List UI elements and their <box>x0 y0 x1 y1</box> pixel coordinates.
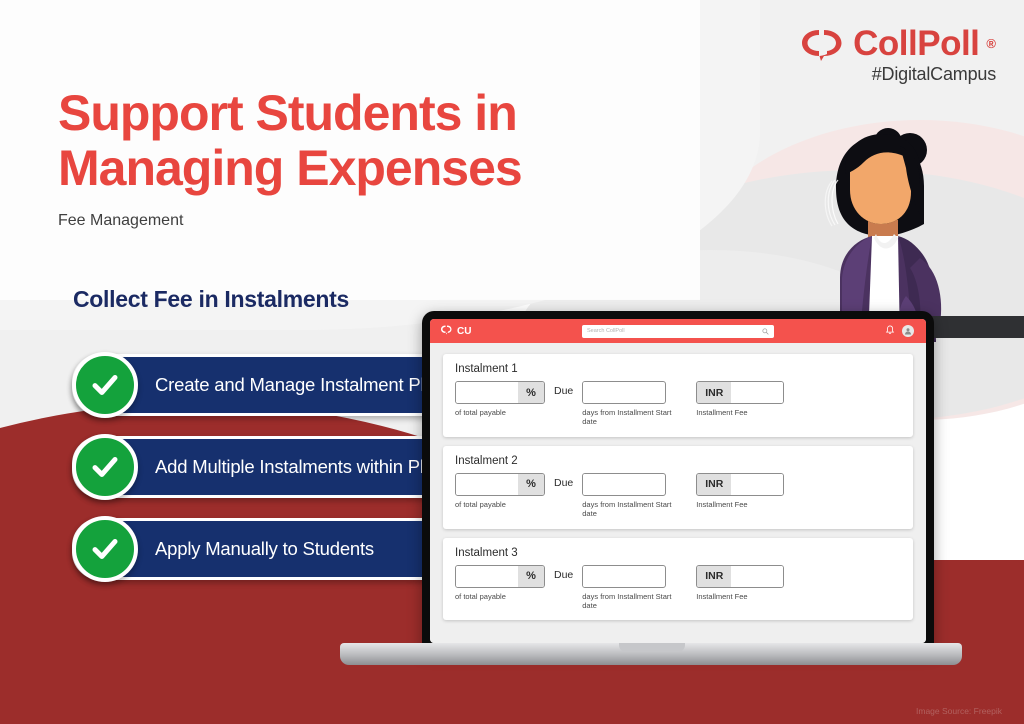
search-icon <box>762 322 769 340</box>
percent-input[interactable]: % <box>455 473 545 496</box>
search-placeholder: Search CollPoll <box>587 328 762 334</box>
fee-value[interactable] <box>731 566 783 587</box>
instalment-title: Instalment 1 <box>455 363 901 375</box>
fee-value[interactable] <box>731 474 783 495</box>
registered-mark: ® <box>986 36 996 51</box>
currency-prefix: INR <box>697 566 731 587</box>
page-title: Support Students in Managing Expenses <box>58 86 678 196</box>
due-label: Due <box>554 473 573 494</box>
check-icon <box>72 434 138 500</box>
percent-value[interactable] <box>456 474 518 495</box>
app-bar-actions <box>885 322 914 340</box>
check-icon <box>72 352 138 418</box>
percent-field-group: % of total payable <box>455 381 545 417</box>
image-credit: Image Source: Freepik <box>916 706 1002 716</box>
days-value[interactable] <box>583 382 645 403</box>
speech-bubble-icon <box>798 27 846 61</box>
percent-value[interactable] <box>456 566 518 587</box>
fee-hint: Installment Fee <box>696 500 784 509</box>
app-logo-text: CU <box>457 326 471 337</box>
poster-canvas: CollPoll ® #DigitalCampus Support Studen… <box>0 0 1024 724</box>
days-hint: days from Installment Start date <box>582 500 682 519</box>
fee-input[interactable]: INR <box>696 565 784 588</box>
days-value[interactable] <box>583 566 645 587</box>
percent-hint: of total payable <box>455 408 545 417</box>
percent-input[interactable]: % <box>455 565 545 588</box>
days-hint: days from Installment Start date <box>582 592 682 611</box>
fee-input[interactable]: INR <box>696 381 784 404</box>
speech-bubble-icon <box>440 322 453 340</box>
fee-value[interactable] <box>731 382 783 403</box>
percent-field-group: % of total payable <box>455 473 545 509</box>
percent-field-group: % of total payable <box>455 565 545 601</box>
fee-hint: Installment Fee <box>696 408 784 417</box>
fee-hint: Installment Fee <box>696 592 784 601</box>
app-top-bar: CU Search CollPoll <box>430 319 926 343</box>
currency-prefix: INR <box>697 382 731 403</box>
laptop-screen: CU Search CollPoll <box>422 311 934 651</box>
percent-hint: of total payable <box>455 500 545 509</box>
app-viewport: CU Search CollPoll <box>430 319 926 643</box>
percent-value[interactable] <box>456 382 518 403</box>
percent-suffix: % <box>518 474 544 495</box>
search-input[interactable]: Search CollPoll <box>582 325 774 338</box>
days-field-group: days from Installment Start date <box>582 565 682 611</box>
percent-input[interactable]: % <box>455 381 545 404</box>
bell-icon[interactable] <box>885 322 895 340</box>
days-input[interactable] <box>582 381 666 404</box>
brand-tagline: #DigitalCampus <box>798 64 996 85</box>
currency-prefix: INR <box>697 474 731 495</box>
instalment-card: Instalment 1 % of total payable Due <box>443 354 913 437</box>
days-input[interactable] <box>582 565 666 588</box>
instalment-title: Instalment 2 <box>455 455 901 467</box>
app-logo[interactable]: CU <box>440 322 471 340</box>
brand-name: CollPoll <box>853 26 979 61</box>
days-hint: days from Installment Start date <box>582 408 682 427</box>
due-label: Due <box>554 565 573 586</box>
fee-input[interactable]: INR <box>696 473 784 496</box>
fee-field-group: INR Installment Fee <box>696 565 784 601</box>
instalment-card: Instalment 2 % of total payable Due <box>443 446 913 529</box>
laptop-mockup: CU Search CollPoll <box>340 311 962 671</box>
days-field-group: days from Installment Start date <box>582 381 682 427</box>
instalment-title: Instalment 3 <box>455 547 901 559</box>
fee-field-group: INR Installment Fee <box>696 381 784 417</box>
percent-hint: of total payable <box>455 592 545 601</box>
instalment-card: Instalment 3 % of total payable Due <box>443 538 913 621</box>
percent-suffix: % <box>518 566 544 587</box>
headline-line-1: Support Students in <box>58 86 678 141</box>
headline-line-2: Managing Expenses <box>58 141 678 196</box>
fee-field-group: INR Installment Fee <box>696 473 784 509</box>
page-subtitle: Fee Management <box>58 212 183 230</box>
user-avatar-icon[interactable] <box>902 325 914 337</box>
laptop-notch <box>619 643 685 652</box>
collpoll-logo: CollPoll ® #DigitalCampus <box>798 26 996 85</box>
due-label: Due <box>554 381 573 402</box>
section-title: Collect Fee in Instalments <box>73 286 349 313</box>
percent-suffix: % <box>518 382 544 403</box>
instalment-plan-form: Instalment 1 % of total payable Due <box>430 343 926 643</box>
days-input[interactable] <box>582 473 666 496</box>
days-value[interactable] <box>583 474 645 495</box>
check-icon <box>72 516 138 582</box>
days-field-group: days from Installment Start date <box>582 473 682 519</box>
